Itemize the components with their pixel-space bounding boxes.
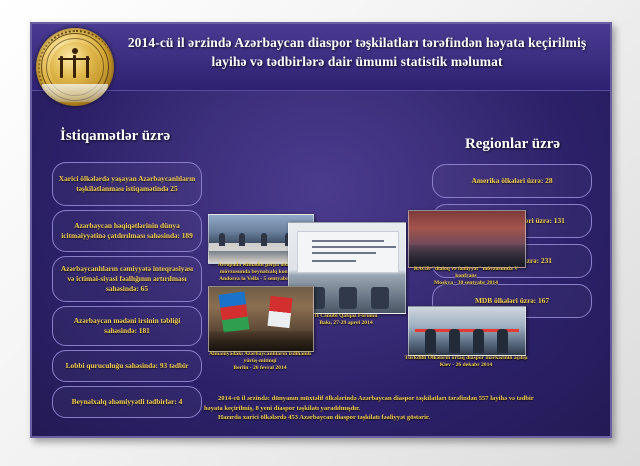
photo-person [449, 329, 460, 353]
azerbaijan-diaspora-emblem [36, 28, 114, 106]
stat-item-cultural-heritage: Azərbaycan mədəni irsinin təbliği sahəsi… [52, 306, 202, 346]
caption-line-2: Berlin - 26 fevral 2014 [233, 365, 286, 371]
azerbaijan-flag [218, 291, 249, 332]
poster-header: 2014-cü il ərzində Azərbaycan diaspor tə… [32, 24, 610, 91]
stat-item-lobbying: Lobbi quruculuğu sahəsində: 93 tədbir [52, 350, 202, 382]
photo-person [339, 287, 357, 309]
summary-footer: 2014-cü il ərzində: dünyanın müxtəlif öl… [204, 394, 604, 423]
stat-item-international-events: Beynəlxalq əhəmiyyətli tədbirlər: 4 [52, 386, 202, 418]
photo-crowd [209, 331, 313, 351]
photo-person [425, 329, 436, 353]
photo-person [219, 233, 225, 246]
photo-person [497, 329, 508, 353]
infographic-poster: 2014-cü il ərzində Azərbaycan diaspor tə… [30, 22, 612, 438]
region-item-america: Amerika ölkələri üzrə: 28 [432, 164, 592, 198]
emblem-water-shape [42, 84, 108, 102]
photo-person [239, 233, 245, 246]
summary-line-2: həyata keçirilmiş, 8 yeni diaspor təşkil… [204, 404, 604, 414]
kiev-opening-photo [408, 306, 526, 356]
emblem-figure-arms [58, 58, 90, 60]
berlin-rally-photo [208, 286, 314, 352]
photo-stage-banner [297, 231, 399, 273]
photo-person [371, 287, 389, 309]
banner-text-line [312, 260, 356, 262]
summary-line-3: Hazırda xarici ölkələrdə 453 Azərbaycan … [204, 413, 604, 423]
caption-line-2: Kiev - 26 dekabr 2014 [440, 362, 492, 368]
caption-line-1: Türkdilli Ölkələrin ortaq diaspor mərkəz… [404, 355, 527, 361]
protest-flag [267, 296, 292, 328]
caption-line-2: Bakı, 27-29 aprel 2014 [319, 320, 372, 326]
summary-line-1: 2014-cü il ərzində: dünyanın müxtəlif öl… [204, 394, 604, 404]
caption-line-1: II Cənubi Qafqaz Forumu [315, 313, 378, 319]
stat-item-integration: Azərbaycanlıların cəmiyyətə inteqrasiyas… [52, 256, 202, 302]
caption-line-1: RAGB-"dialoq və fəaliyyət" mövzusunda V … [414, 266, 518, 279]
moscow-conference-photo [408, 210, 526, 268]
stat-item-organization: Xarici ölkələrdə yaşayan Azərbaycanlılar… [52, 162, 202, 206]
photo-person [473, 329, 484, 353]
moscow-conference-caption: RAGB-"dialoq və fəaliyyət" mövzusunda V … [404, 266, 528, 287]
page-title: 2014-cü il ərzində Azərbaycan diaspor tə… [114, 33, 600, 71]
photo-audience [409, 245, 525, 267]
section-heading-directions: İstiqamətlər üzrə [60, 128, 170, 145]
kiev-opening-caption: Türkdilli Ölkələrin ortaq diaspor mərkəz… [404, 355, 528, 369]
photo-person [261, 233, 267, 246]
banner-text-line [312, 246, 396, 248]
caption-line-2: Moskva - 30 sentyabr 2014 [434, 280, 498, 286]
emblem-sun-dot [72, 48, 78, 54]
section-heading-regions: Regionlar üzrə [430, 136, 595, 153]
banner-text-line [312, 252, 376, 254]
caption-line-1: Almaniyadakı Azərbaycanlıların izdihamlı… [209, 351, 311, 364]
berlin-rally-caption: Almaniyadakı Azərbaycanlıların izdihamlı… [204, 351, 316, 372]
banner-text-line [312, 240, 384, 242]
stat-item-truth-awareness: Azərbaycan həqiqətlərinin dünya icitmaiy… [52, 210, 202, 252]
